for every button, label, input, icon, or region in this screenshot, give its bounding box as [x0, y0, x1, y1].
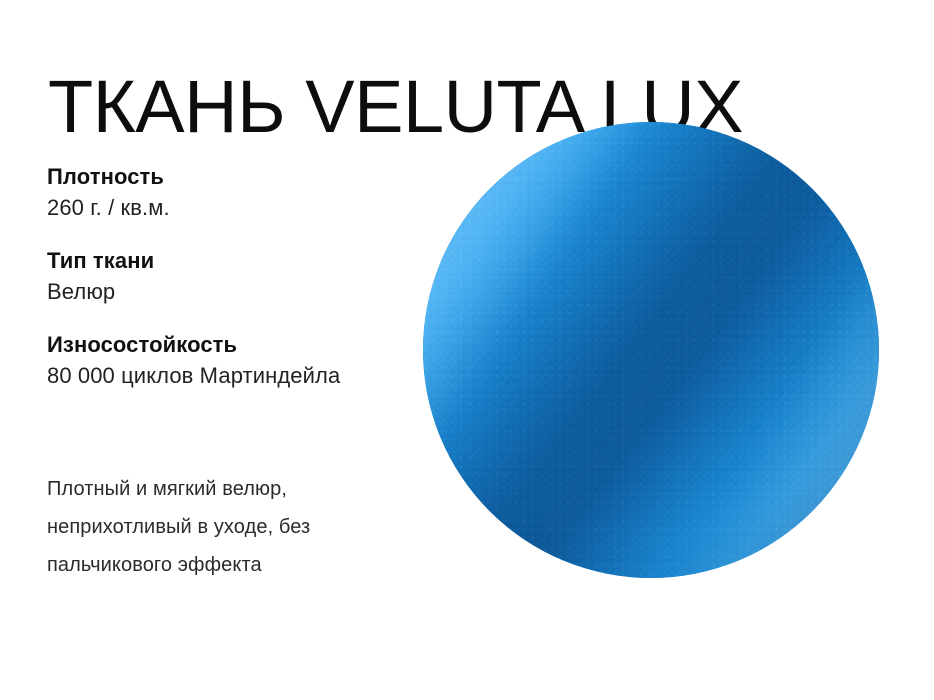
fabric-swatch-circle	[423, 122, 879, 578]
fabric-info-slide: ТКАНЬ VELUTA LUX Плотность 260 г. / кв.м…	[0, 0, 934, 700]
spec-list: Плотность 260 г. / кв.м. Тип ткани Велюр…	[47, 162, 407, 392]
spec-item-density: Плотность 260 г. / кв.м.	[47, 162, 407, 224]
fabric-description: Плотный и мягкий велюр, неприхотливый в …	[47, 470, 407, 584]
spec-label-fabric-type: Тип ткани	[47, 246, 407, 276]
spec-item-fabric-type: Тип ткани Велюр	[47, 246, 407, 308]
spec-value-density: 260 г. / кв.м.	[47, 192, 407, 224]
swatch-vignette	[423, 122, 879, 578]
spec-value-fabric-type: Велюр	[47, 276, 407, 308]
spec-item-durability: Износостойкость 80 000 циклов Мартиндейл…	[47, 330, 407, 392]
spec-label-durability: Износостойкость	[47, 330, 407, 360]
spec-value-durability: 80 000 циклов Мартиндейла	[47, 360, 407, 392]
spec-label-density: Плотность	[47, 162, 407, 192]
